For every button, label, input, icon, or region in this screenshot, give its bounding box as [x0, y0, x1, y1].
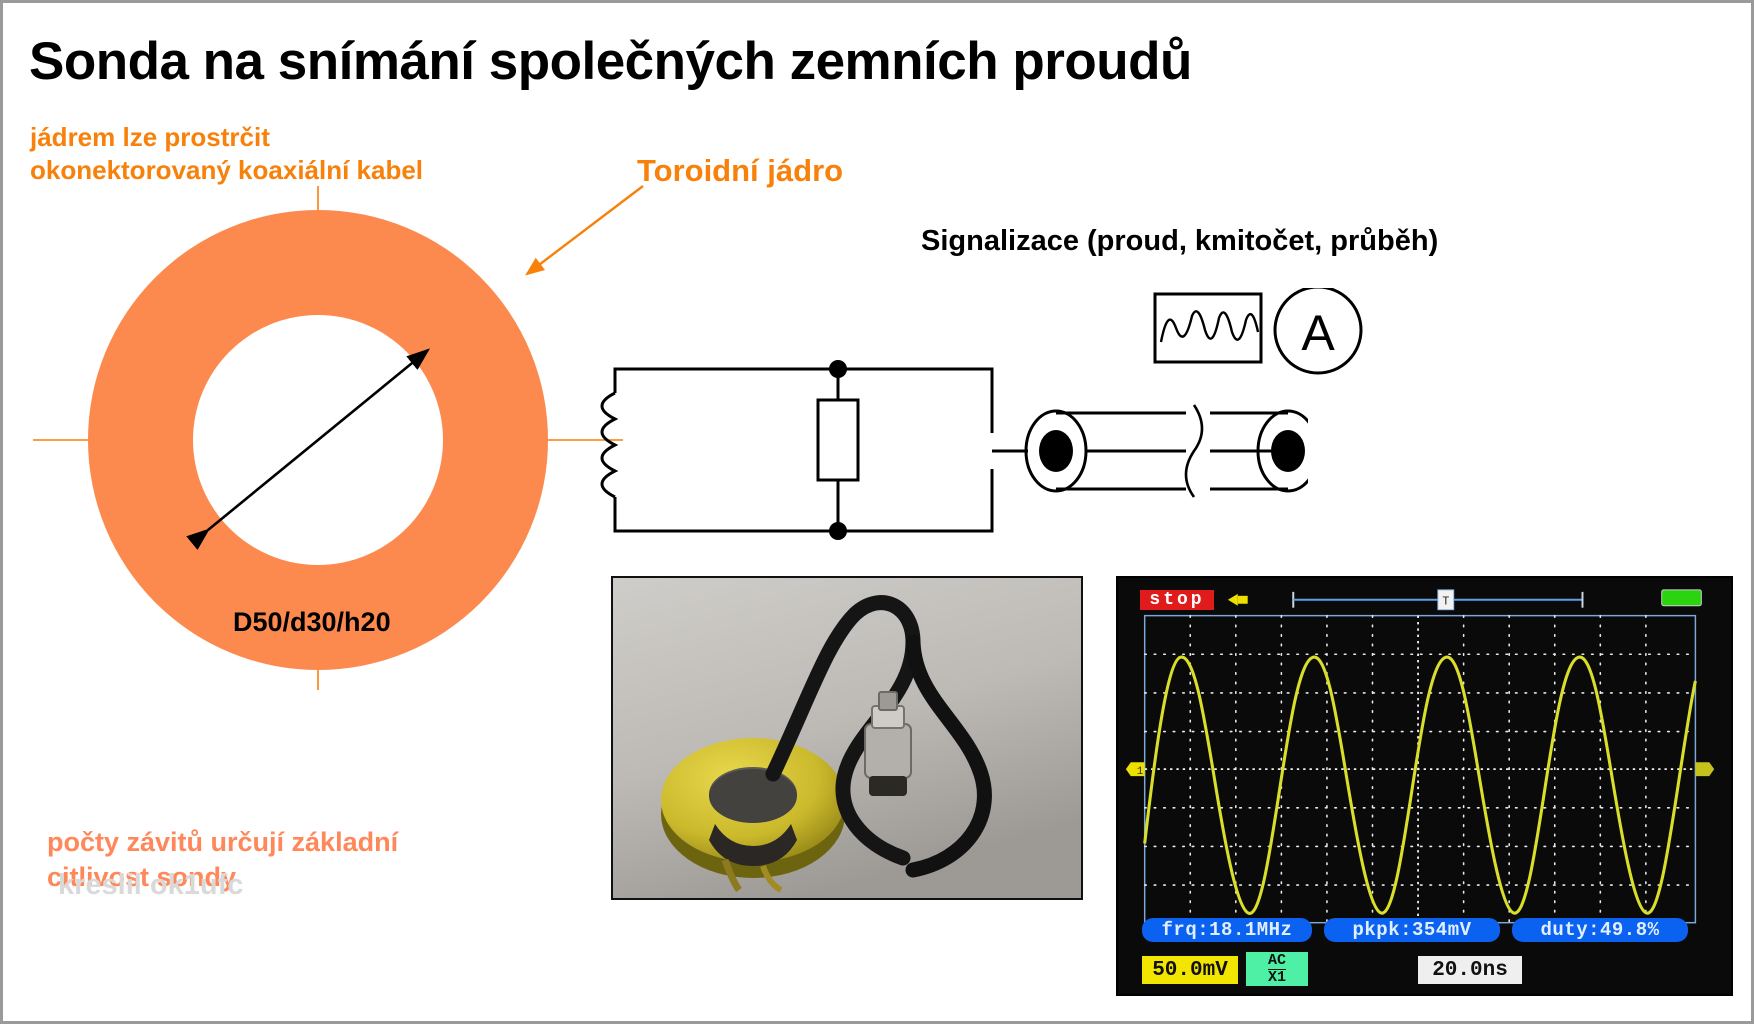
turns-note-line-1: počty závitů určují základní: [47, 825, 398, 860]
author-signature: kreslil ok1ufc: [58, 869, 243, 902]
trigger-level-marker: [1695, 762, 1714, 776]
core-dimensions-label: D50/d30/h20: [233, 607, 391, 638]
coupling-value: AC: [1268, 952, 1286, 970]
junction-dot-bottom: [829, 522, 847, 540]
measurement-badge-pkpk: pkpk:354mV: [1324, 918, 1500, 942]
channel-ground-marker: 1: [1126, 762, 1145, 778]
wire-bottom-left: [615, 497, 838, 531]
measurement-badge-duty: duty:49.8%: [1512, 918, 1688, 942]
core-note-line-1: jádrem lze prostrčit: [30, 121, 423, 154]
cable-break-symbol: [1186, 405, 1202, 497]
page-title: Sonda na snímání společných zemních prou…: [29, 31, 1192, 92]
probe-photograph: [611, 576, 1083, 900]
wire-bottom-right: [838, 469, 992, 531]
battery-indicator: [1662, 590, 1702, 606]
resistor-body: [818, 400, 858, 480]
probe-attenuation-value: X1: [1268, 970, 1286, 987]
svg-text:1: 1: [1137, 766, 1144, 778]
volts-per-div-badge: 50.0mV: [1142, 956, 1238, 984]
toroid-label: Toroidní jádro: [637, 153, 843, 189]
photo-bnc-plug: [865, 692, 911, 796]
junction-dot-top: [829, 360, 847, 378]
bnc-pin-left: [1039, 430, 1073, 472]
svg-text:T: T: [1442, 595, 1449, 609]
coupling-probe-badge: AC X1: [1246, 952, 1308, 986]
slide-canvas: Sonda na snímání společných zemních prou…: [0, 0, 1754, 1024]
measurement-badge-frequency: frq:18.1MHz: [1142, 918, 1312, 942]
inductor-coil: [602, 393, 615, 497]
time-per-div-badge: 20.0ns: [1418, 956, 1522, 984]
ammeter-letter: A: [1301, 305, 1335, 361]
wire-top-left: [615, 369, 838, 393]
waveform-trace: [1145, 657, 1696, 913]
oscilloscope-screen: stop T: [1116, 576, 1733, 996]
wire-top-right: [838, 369, 992, 433]
trigger-bar: T: [1228, 590, 1583, 610]
bnc-pin-right: [1271, 430, 1305, 472]
signalization-symbols: A: [1153, 288, 1383, 383]
signalization-label: Signalizace (proud, kmitočet, průběh): [921, 225, 1438, 258]
